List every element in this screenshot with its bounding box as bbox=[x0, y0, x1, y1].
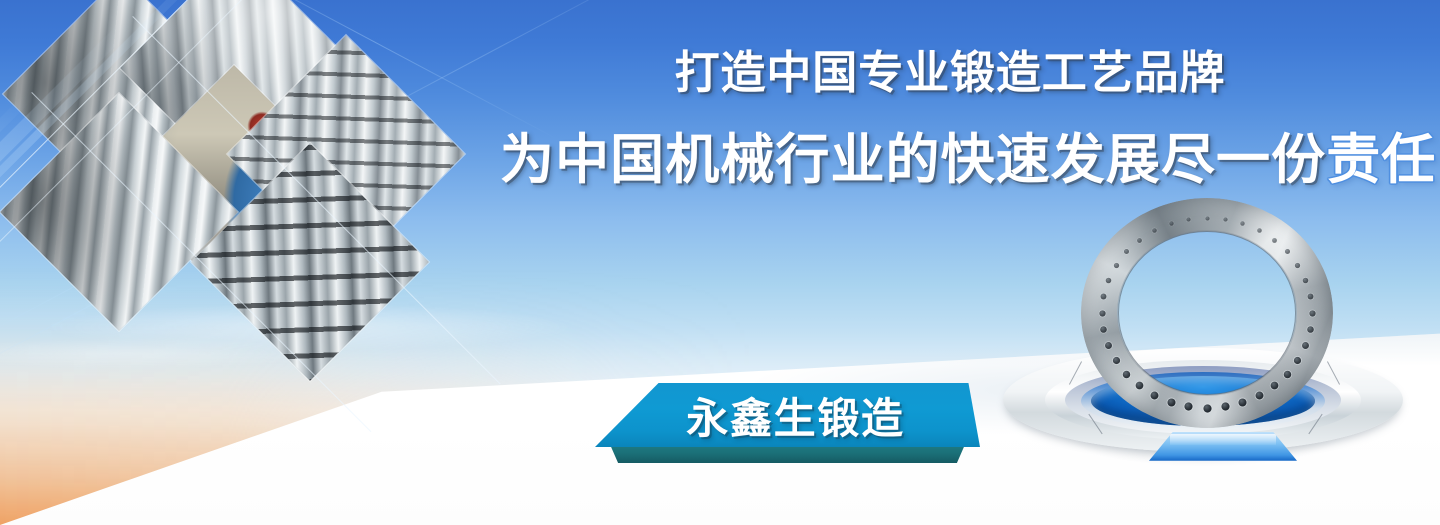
bolt-hole bbox=[1100, 326, 1107, 333]
flange-inner-rim bbox=[1118, 231, 1297, 394]
bolt-hole bbox=[1169, 221, 1173, 225]
forged-flange-ring bbox=[1081, 198, 1333, 428]
bolt-hole bbox=[1284, 370, 1292, 378]
bolt-hole bbox=[1106, 278, 1112, 284]
diamond-photo-collage bbox=[0, 0, 470, 400]
bolt-hole bbox=[1272, 238, 1277, 243]
plaque-label: 永鑫生锻造 bbox=[595, 383, 980, 447]
product-showcase bbox=[985, 198, 1415, 508]
company-name-plaque: 永鑫生锻造 bbox=[595, 383, 980, 475]
bolt-hole bbox=[1223, 217, 1227, 221]
bolt-hole bbox=[1151, 391, 1159, 399]
bolt-hole bbox=[1113, 263, 1118, 268]
headline-line-2-accent: 责任 bbox=[1326, 130, 1436, 190]
headline-group: 打造中国专业锻造工艺品牌 为中国机械行业的快速发展尽一份责任 bbox=[500, 50, 1400, 187]
bolt-hole bbox=[1167, 398, 1175, 406]
bolt-hole bbox=[1203, 404, 1211, 412]
bolt-hole bbox=[1221, 402, 1229, 410]
headline-line-2: 为中国机械行业的快速发展尽一份责任 bbox=[500, 133, 1400, 187]
bolt-hole bbox=[1123, 370, 1131, 378]
bolt-hole bbox=[1137, 238, 1142, 243]
headline-line-1: 打造中国专业锻造工艺品牌 bbox=[500, 50, 1400, 95]
promo-banner: 打造中国专业锻造工艺品牌 为中国机械行业的快速发展尽一份责任 永鑫生锻造 bbox=[0, 0, 1440, 525]
headline-line-2-plain: 为中国机械行业的快速发展尽一份 bbox=[500, 130, 1326, 190]
bolt-hole bbox=[1112, 357, 1119, 364]
bolt-hole bbox=[1307, 294, 1313, 300]
bolt-hole bbox=[1205, 216, 1209, 220]
bolt-hole bbox=[1256, 391, 1264, 399]
bolt-hole bbox=[1099, 310, 1105, 316]
bolt-hole bbox=[1105, 342, 1112, 349]
bolt-hole bbox=[1307, 326, 1314, 333]
bolt-hole bbox=[1309, 310, 1315, 316]
